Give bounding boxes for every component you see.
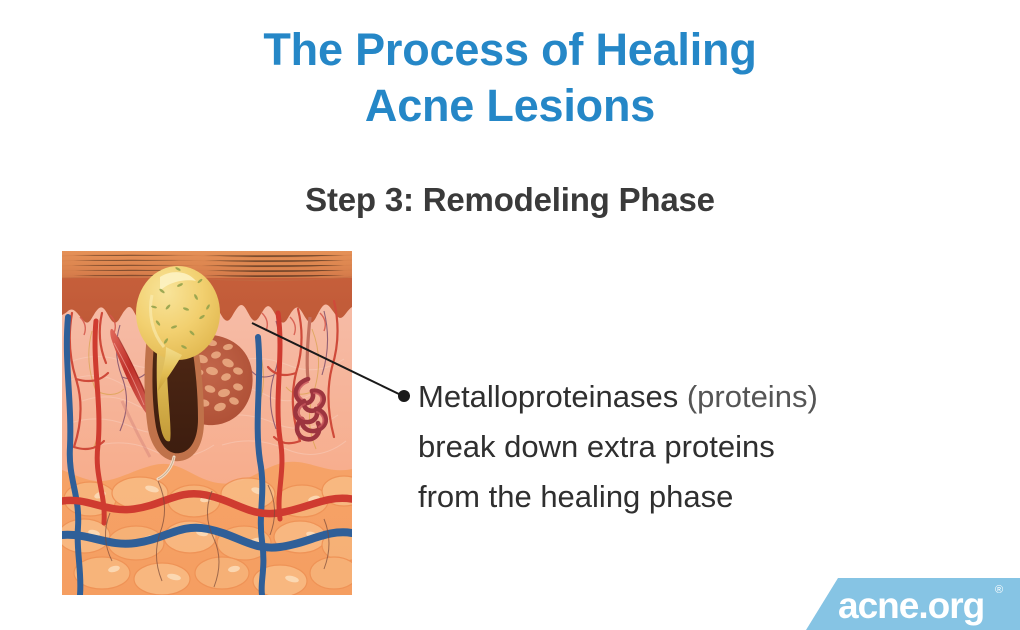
skin-cross-section-illustration	[62, 251, 352, 595]
callout-line-2: break down extra proteins	[418, 422, 978, 472]
callout-line-3: from the healing phase	[418, 472, 978, 522]
callout-term: Metalloproteinases	[418, 379, 687, 414]
callout-block: Metalloproteinases (proteins) break down…	[418, 372, 978, 522]
title-line-2: Acne Lesions	[0, 78, 1020, 134]
callout-line-1: Metalloproteinases (proteins)	[418, 372, 978, 422]
registered-trademark-icon: ®	[995, 585, 1003, 596]
subtitle-step-label: Step 3: Remodeling Phase	[0, 180, 1020, 220]
page-title: The Process of Healing Acne Lesions	[0, 22, 1020, 134]
acne-org-logo-text: acne.org	[838, 584, 984, 628]
callout-term-gloss: (proteins)	[687, 379, 818, 414]
title-line-1: The Process of Healing	[0, 22, 1020, 78]
